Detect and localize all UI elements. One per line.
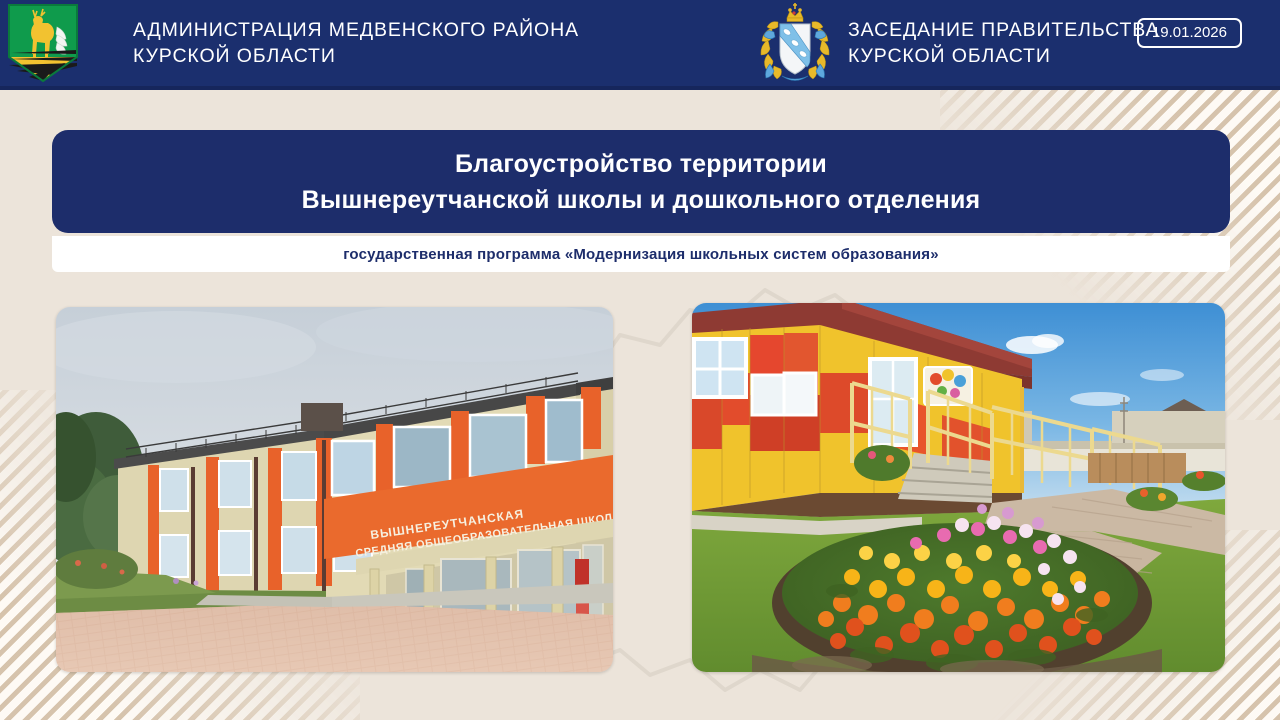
photo-school: ВЫШНЕРЕУТЧАНСКАЯ СРЕДНЯЯ ОБЩЕОБРАЗОВАТЕЛ… xyxy=(56,307,613,672)
kursk-region-coat-of-arms-icon xyxy=(754,2,836,84)
slide-title-banner: Благоустройство территории Вышнереутчанс… xyxy=(52,130,1230,233)
photo-kindergarten xyxy=(692,303,1225,672)
administration-title: АДМИНИСТРАЦИЯ МЕДВЕНСКОГО РАЙОНА КУРСКОЙ… xyxy=(133,17,579,69)
medvensky-district-coat-of-arms-icon xyxy=(7,3,79,83)
slide-title-line-2: Вышнереутчанской школы и дошкольного отд… xyxy=(302,182,981,218)
slide-subtitle-bar: государственная программа «Модернизация … xyxy=(52,236,1230,272)
header-right-block: ЗАСЕДАНИЕ ПРАВИТЕЛЬСТВА КУРСКОЙ ОБЛАСТИ … xyxy=(748,2,1280,84)
header-left-block: АДМИНИСТРАЦИЯ МЕДВЕНСКОГО РАЙОНА КУРСКОЙ… xyxy=(0,3,748,83)
meeting-title: ЗАСЕДАНИЕ ПРАВИТЕЛЬСТВА КУРСКОЙ ОБЛАСТИ xyxy=(848,17,1159,69)
date-badge: 19.01.2026 xyxy=(1137,18,1242,48)
presentation-slide: АДМИНИСТРАЦИЯ МЕДВЕНСКОГО РАЙОНА КУРСКОЙ… xyxy=(0,0,1280,720)
slide-header: АДМИНИСТРАЦИЯ МЕДВЕНСКОГО РАЙОНА КУРСКОЙ… xyxy=(0,0,1280,90)
slide-subtitle-text: государственная программа «Модернизация … xyxy=(343,246,939,263)
slide-title-line-1: Благоустройство территории xyxy=(455,146,827,182)
